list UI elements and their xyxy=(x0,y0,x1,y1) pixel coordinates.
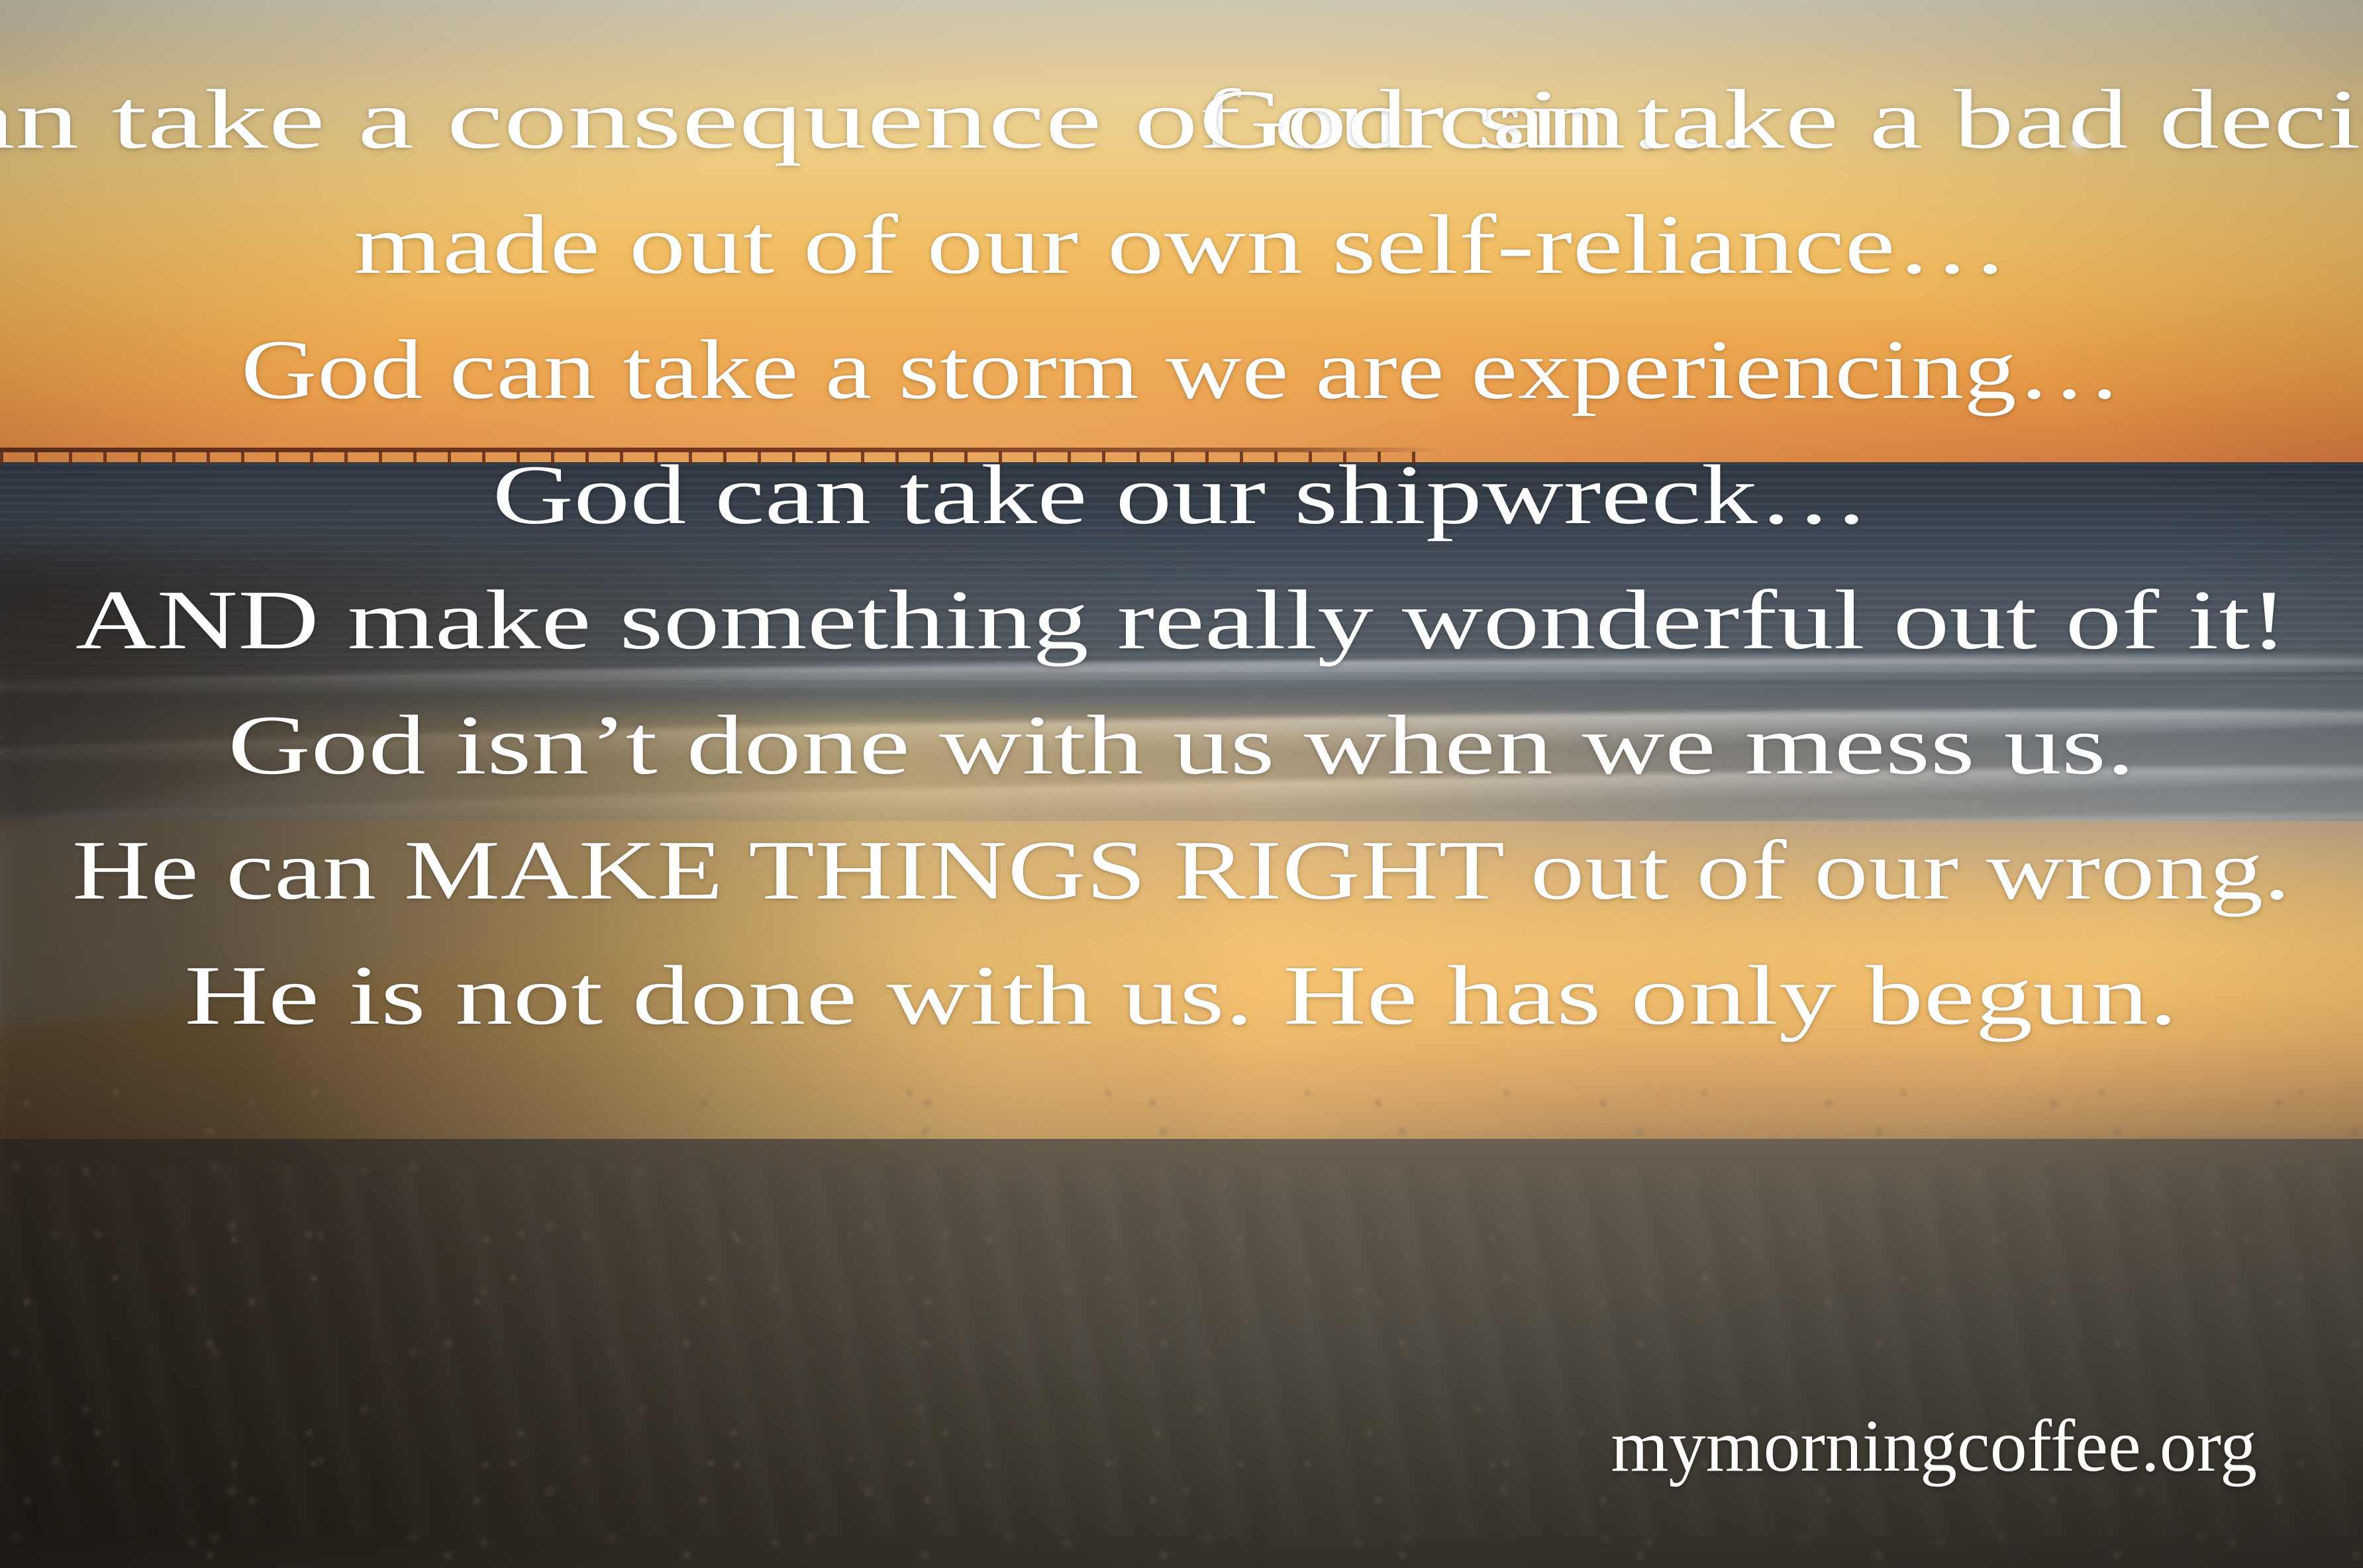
quote-line-7: God isn’t done with us when we mess us. xyxy=(228,683,2135,808)
dry-sand-beach xyxy=(0,1139,2363,1568)
quote-line-3: made out of our own self-reliance… xyxy=(354,182,2009,307)
quote-line-2: God can take a bad decision xyxy=(1199,57,2363,182)
quote-line-5: God can take our shipwreck… xyxy=(493,432,1870,558)
quote-image-canvas: God can take a consequence of our sin… G… xyxy=(0,0,2363,1568)
quote-line-6: AND make something really wonderful out … xyxy=(75,558,2288,683)
quote-line-4: God can take a storm we are experiencing… xyxy=(241,307,2122,432)
quote-line-9: He is not done with us. He has only begu… xyxy=(185,933,2178,1058)
website-attribution: mymorningcoffee.org xyxy=(1611,1402,2257,1490)
quote-line-8: He can MAKE THINGS RIGHT out of our wron… xyxy=(72,808,2291,933)
quote-text-block: God can take a consequence of our sin… G… xyxy=(0,57,2363,1058)
